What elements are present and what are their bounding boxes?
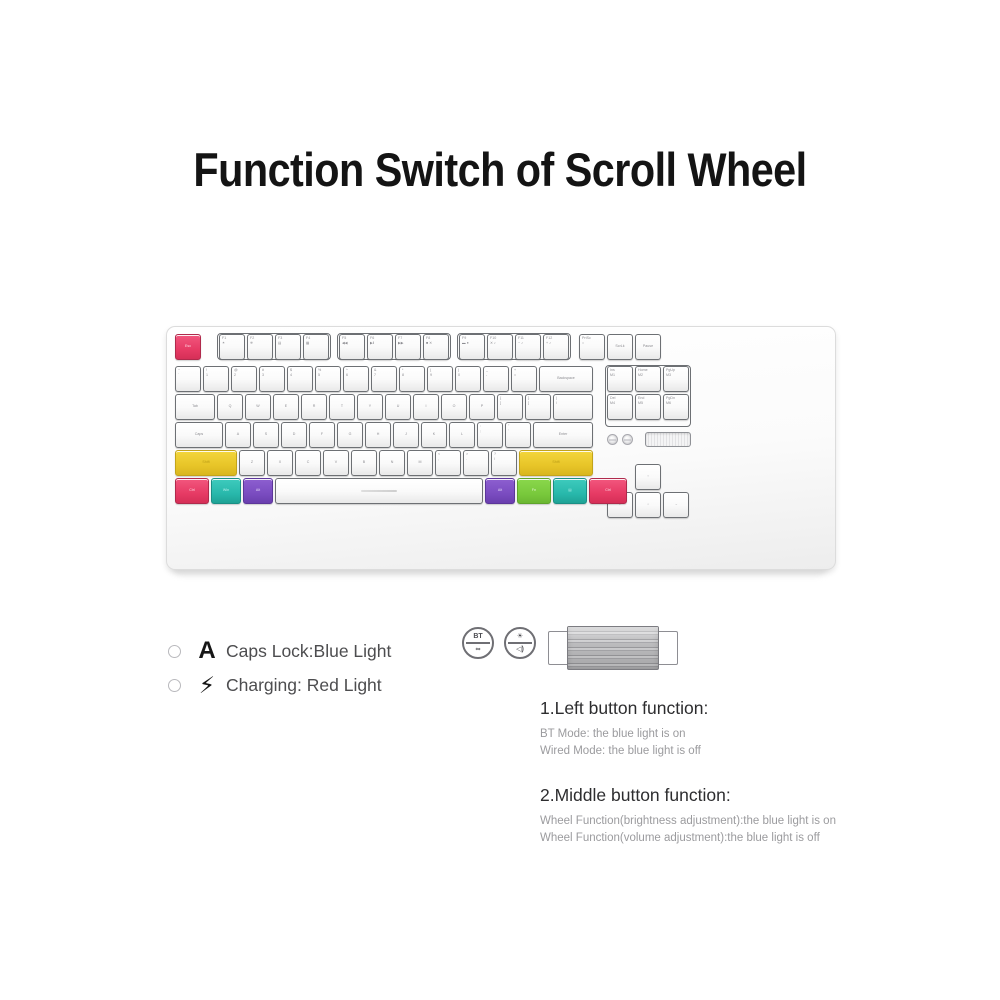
key-sublegend: ✵: [250, 342, 272, 346]
key-legend: W: [256, 405, 259, 409]
key-arrow-right[interactable]: →: [663, 492, 689, 518]
key-f8[interactable]: F8■ ✕: [423, 334, 449, 360]
key-legend: PrtSc: [582, 337, 604, 341]
key-sublegend: M6: [666, 402, 688, 406]
key-sublegend: ✶: [222, 342, 244, 346]
key-legend: PgDn: [666, 397, 688, 401]
bt-mode-icon: BT ∞: [462, 627, 494, 659]
key-legend: O: [453, 405, 456, 409]
key-z[interactable]: Z: [239, 450, 265, 476]
key-sublegend: M3: [666, 374, 688, 378]
key-legend: U: [397, 405, 400, 409]
key-legend: &: [374, 369, 396, 373]
key-home[interactable]: HomeM2: [635, 366, 661, 392]
legend-item-label: Charging: Red Light: [226, 675, 382, 696]
key-space[interactable]: !1: [203, 366, 229, 392]
key-sublegend: M1: [610, 374, 632, 378]
key-legend: ▤: [568, 489, 571, 493]
icon-divider: [466, 642, 490, 644]
bullet-icon: [168, 645, 181, 658]
key-space[interactable]: *8: [399, 366, 425, 392]
key-legend: {: [500, 397, 522, 401]
key-sublegend: ○: [582, 342, 604, 346]
key-legend: Esc: [185, 345, 191, 349]
key-sublegend: -: [486, 374, 508, 378]
key-legend: Ctrl: [189, 489, 195, 493]
key-sublegend: ◀◀: [342, 342, 364, 346]
instruction-heading: 1.Left button function:: [540, 698, 940, 719]
key-alt[interactable]: Alt: [243, 478, 273, 504]
key-legend: J: [405, 433, 407, 437]
kb-scroll-wheel[interactable]: [645, 432, 691, 447]
key-p[interactable]: P: [469, 394, 495, 420]
key-s[interactable]: S: [253, 422, 279, 448]
key-sublegend: ▬ ●: [462, 342, 484, 346]
key-legend: Caps: [195, 433, 203, 437]
key-arrow-down[interactable]: ↓: [635, 492, 661, 518]
key-f7[interactable]: F7▶▶: [395, 334, 421, 360]
key-sublegend: 5: [318, 374, 340, 378]
key-sublegend: ': [508, 430, 530, 434]
key-legend: End: [638, 397, 660, 401]
key-sublegend: ▤: [278, 342, 300, 346]
key-legend: B: [363, 461, 365, 465]
key-legend: F7: [398, 337, 420, 341]
key-legend: >: [466, 453, 488, 457]
key-legend: Shift: [552, 461, 559, 465]
key-legend: +: [514, 369, 536, 373]
key-m[interactable]: M: [407, 450, 433, 476]
key-legend: V: [335, 461, 337, 465]
keyboard-plate: A ⚡ ↑ ← ↓ → EscF: [175, 334, 825, 556]
key-fn[interactable]: Fn: [517, 478, 551, 504]
key-legend: L: [461, 433, 463, 437]
key-legend: Ins: [610, 369, 632, 373]
key-sublegend: ▶▶: [398, 342, 420, 346]
key-q[interactable]: Q: [217, 394, 243, 420]
key-legend: F1: [222, 337, 244, 341]
wheel-flange-right: [656, 631, 678, 665]
kb-middle-mode-button[interactable]: [622, 434, 633, 445]
key-prtsc[interactable]: PrtSc○: [579, 334, 605, 360]
key-sublegend: M5: [638, 402, 660, 406]
key-sublegend: ■ ✕: [426, 342, 448, 346]
key-del[interactable]: DelM4: [607, 394, 633, 420]
key-sublegend: ▶‖: [370, 342, 392, 346]
key-sublegend: ,: [438, 458, 460, 462]
key-legend: PgUp: [666, 369, 688, 373]
key-win[interactable]: Win: [211, 478, 241, 504]
key-x[interactable]: X: [267, 450, 293, 476]
spacer: [540, 759, 940, 785]
key-legend: N: [391, 461, 394, 465]
key-pause[interactable]: Pause: [635, 334, 661, 360]
key-space[interactable]: )0: [455, 366, 481, 392]
key-space[interactable]: $4: [287, 366, 313, 392]
key-space[interactable]: _-: [483, 366, 509, 392]
key-legend: X: [279, 461, 281, 465]
key-g[interactable]: G: [337, 422, 363, 448]
key-pgup[interactable]: PgUpM3: [663, 366, 689, 392]
key-pgdn[interactable]: PgDnM6: [663, 394, 689, 420]
key-esc[interactable]: Esc: [175, 334, 201, 360]
key-tab[interactable]: Tab: [175, 394, 215, 420]
instruction-heading: 2.Middle button function:: [540, 785, 940, 806]
key-legend: M: [419, 461, 422, 465]
key-u[interactable]: U: [385, 394, 411, 420]
key-space[interactable]: &7: [371, 366, 397, 392]
key-sublegend: M2: [638, 374, 660, 378]
key-f[interactable]: F: [309, 422, 335, 448]
key-sublegend: \: [556, 402, 592, 406]
key-sublegend: =: [514, 374, 536, 378]
key-legend: Backspace: [557, 377, 575, 381]
wheel-barrel: [567, 626, 659, 670]
key-legend: !: [206, 369, 228, 373]
key-space[interactable]: @2: [231, 366, 257, 392]
key-legend: E: [285, 405, 287, 409]
key-legend: G: [349, 433, 352, 437]
key-f4[interactable]: F4▦: [303, 334, 329, 360]
key-f5[interactable]: F5◀◀: [339, 334, 365, 360]
key-sublegend: 7: [374, 374, 396, 378]
key-e[interactable]: E: [273, 394, 299, 420]
instruction-line: BT Mode: the blue light is on: [540, 726, 940, 743]
key-h[interactable]: H: [365, 422, 391, 448]
key-legend: C: [307, 461, 310, 465]
key-sublegend: .: [466, 458, 488, 462]
key-space[interactable]: %5: [315, 366, 341, 392]
key-sublegend: 1: [206, 374, 228, 378]
key-space[interactable]: (9: [427, 366, 453, 392]
instructions-block: 1.Left button function: BT Mode: the blu…: [540, 698, 940, 847]
key-sublegend: ▦: [306, 342, 328, 346]
key-legend: Home: [638, 369, 660, 373]
key-shift[interactable]: Shift: [519, 450, 593, 476]
key-legend: #: [262, 369, 284, 373]
key-legend: F: [321, 433, 323, 437]
key-f9[interactable]: F9▬ ●: [459, 334, 485, 360]
key-space[interactable]: ~`: [175, 366, 201, 392]
legend-item-label: Caps Lock:Blue Light: [226, 641, 391, 662]
key-legend: Y: [369, 405, 371, 409]
key-ins[interactable]: InsM1: [607, 366, 633, 392]
key-legend: <: [438, 453, 460, 457]
key-legend: Z: [251, 461, 253, 465]
bullet-icon: [168, 679, 181, 692]
key-legend: Pause: [643, 345, 653, 349]
key-legend: ): [458, 369, 480, 373]
key-legend: $: [290, 369, 312, 373]
key-legend: F10: [490, 337, 512, 341]
key-v[interactable]: V: [323, 450, 349, 476]
key-sublegend: ✕ ♪: [490, 342, 512, 346]
key-sublegend: 6: [346, 374, 368, 378]
key-legend: %: [318, 369, 340, 373]
caps-lock-letter-icon: A: [194, 639, 220, 663]
key-legend: F11: [518, 337, 540, 341]
key-space[interactable]: :;: [477, 422, 503, 448]
key-arrow-up[interactable]: ↑: [635, 464, 661, 490]
key-sublegend: /: [494, 458, 516, 462]
key-scrlk[interactable]: ScrLk: [607, 334, 633, 360]
instruction-line: Wheel Function(brightness adjustment):th…: [540, 813, 940, 830]
key-legend: Win: [223, 489, 229, 493]
key-space[interactable]: ?/: [491, 450, 517, 476]
legend-item: ⚡ Charging: Red Light: [168, 668, 468, 702]
key-f6[interactable]: F6▶‖: [367, 334, 393, 360]
key-f11[interactable]: F11− ♪: [515, 334, 541, 360]
key-legend: :: [480, 425, 502, 429]
key-f12[interactable]: F12+ ♪: [543, 334, 569, 360]
key-legend: I: [426, 405, 427, 409]
key-sublegend: 3: [262, 374, 284, 378]
scroll-wheel-illustration: [548, 626, 678, 670]
key-legend: *: [402, 369, 424, 373]
key-legend: D: [293, 433, 296, 437]
key-legend: S: [265, 433, 267, 437]
key-f2[interactable]: F2✵: [247, 334, 273, 360]
key-c[interactable]: C: [295, 450, 321, 476]
key-sublegend: [: [500, 402, 522, 406]
key-sublegend: 9: [430, 374, 452, 378]
key-ctrl[interactable]: Ctrl: [589, 478, 627, 504]
key-space[interactable]: "': [505, 422, 531, 448]
key-legend: K: [433, 433, 435, 437]
key-t[interactable]: T: [329, 394, 355, 420]
key-legend: Alt: [256, 489, 260, 493]
key-legend: Alt: [498, 489, 502, 493]
key-sublegend: 2: [234, 374, 256, 378]
key-legend: F5: [342, 337, 364, 341]
key-legend: }: [528, 397, 550, 401]
key-legend: ~: [178, 369, 200, 373]
icon-divider: [508, 642, 532, 644]
page-root: Function Switch of Scroll Wheel A ⚡: [0, 0, 1000, 1000]
key-f3[interactable]: F3▤: [275, 334, 301, 360]
key-legend: @: [234, 369, 256, 373]
key-legend: |: [556, 397, 592, 401]
key-space[interactable]: ▤: [553, 478, 587, 504]
key-sublegend: M4: [610, 402, 632, 406]
wheel-mode-icon: ☀ ◁): [504, 627, 536, 659]
key-legend: ScrLk: [615, 345, 624, 349]
key-sublegend: − ♪: [518, 342, 540, 346]
key-sublegend: 0: [458, 374, 480, 378]
key-o[interactable]: O: [441, 394, 467, 420]
key-legend: Shift: [202, 461, 209, 465]
key-sublegend: ]: [528, 402, 550, 406]
key-legend: Ctrl: [605, 489, 611, 493]
key-space[interactable]: <,: [435, 450, 461, 476]
key-sublegend: `: [178, 374, 200, 378]
key-enter[interactable]: Enter: [533, 422, 593, 448]
key-legend: F2: [250, 337, 272, 341]
key-legend: Del: [610, 397, 632, 401]
key-legend: Tab: [192, 405, 198, 409]
key-legend: ^: [346, 369, 368, 373]
key-space[interactable]: |\: [553, 394, 593, 420]
indicator-legend: A Caps Lock:Blue Light ⚡ Charging: Red L…: [168, 634, 468, 702]
key-legend: Fn: [532, 489, 536, 493]
key-r[interactable]: R: [301, 394, 327, 420]
key-legend: T: [341, 405, 343, 409]
key-y[interactable]: Y: [357, 394, 383, 420]
keyboard-case: A ⚡ ↑ ← ↓ → EscF: [166, 326, 836, 570]
spacebar-groove: [361, 490, 397, 492]
key-legend: A: [237, 433, 239, 437]
key-legend: F8: [426, 337, 448, 341]
key-space[interactable]: >.: [463, 450, 489, 476]
keyboard-illustration: A ⚡ ↑ ← ↓ → EscF: [166, 326, 834, 574]
key-sublegend: 4: [290, 374, 312, 378]
key-j[interactable]: J: [393, 422, 419, 448]
key-shift[interactable]: Shift: [175, 450, 237, 476]
key-end[interactable]: EndM5: [635, 394, 661, 420]
page-title: Function Switch of Scroll Wheel: [60, 142, 940, 197]
key-backspace[interactable]: Backspace: [539, 366, 593, 392]
key-legend: F4: [306, 337, 328, 341]
key-legend: F6: [370, 337, 392, 341]
key-sublegend: ;: [480, 430, 502, 434]
key-d[interactable]: D: [281, 422, 307, 448]
key-space[interactable]: +=: [511, 366, 537, 392]
key-w[interactable]: W: [245, 394, 271, 420]
key-sublegend: 8: [402, 374, 424, 378]
key-legend: P: [481, 405, 483, 409]
legend-item: A Caps Lock:Blue Light: [168, 634, 468, 668]
key-alt[interactable]: Alt: [485, 478, 515, 504]
key-l[interactable]: L: [449, 422, 475, 448]
lightning-bolt-icon: ⚡: [194, 674, 220, 697]
key-legend: H: [377, 433, 380, 437]
key-legend: Q: [229, 405, 232, 409]
key-i[interactable]: I: [413, 394, 439, 420]
key-legend: R: [313, 405, 316, 409]
key-legend: Enter: [559, 433, 568, 437]
key-sublegend: + ♪: [546, 342, 568, 346]
key-caps[interactable]: Caps: [175, 422, 223, 448]
kb-left-mode-button[interactable]: [607, 434, 618, 445]
key-space[interactable]: {[: [497, 394, 523, 420]
key-b[interactable]: B: [351, 450, 377, 476]
key-legend: F3: [278, 337, 300, 341]
key-space[interactable]: ^6: [343, 366, 369, 392]
key-f10[interactable]: F10✕ ♪: [487, 334, 513, 360]
key-legend: (: [430, 369, 452, 373]
key-a[interactable]: A: [225, 422, 251, 448]
key-space[interactable]: }]: [525, 394, 551, 420]
key-space[interactable]: #3: [259, 366, 285, 392]
key-ctrl[interactable]: Ctrl: [175, 478, 209, 504]
instruction-line: Wheel Function(volume adjustment):the bl…: [540, 830, 940, 847]
instruction-line: Wired Mode: the blue light is off: [540, 743, 940, 760]
key-legend: F12: [546, 337, 568, 341]
key-legend: F9: [462, 337, 484, 341]
key-k[interactable]: K: [421, 422, 447, 448]
key-legend: ": [508, 425, 530, 429]
key-n[interactable]: N: [379, 450, 405, 476]
key-f1[interactable]: F1✶: [219, 334, 245, 360]
key-legend: ?: [494, 453, 516, 457]
key-legend: _: [486, 369, 508, 373]
